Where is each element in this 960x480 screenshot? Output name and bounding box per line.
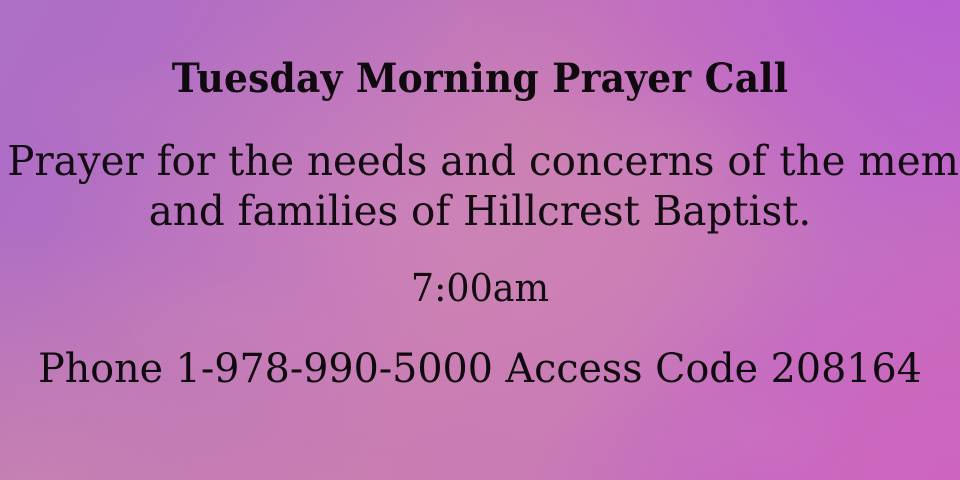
slide-description-line-1: Prayer for the needs and concerns of the…	[7, 136, 953, 186]
announcement-slide: Tuesday Morning Prayer Call Prayer for t…	[0, 0, 960, 480]
slide-headline: Tuesday Morning Prayer Call	[29, 58, 931, 100]
slide-time: 7:00am	[19, 268, 941, 310]
slide-description: Prayer for the needs and concerns of the…	[7, 136, 953, 236]
slide-content: Tuesday Morning Prayer Call Prayer for t…	[0, 0, 960, 480]
slide-description-line-2: and families of Hillcrest Baptist.	[7, 186, 953, 236]
slide-dial-in-details: Phone 1-978-990-5000 Access Code 208164	[5, 347, 955, 391]
